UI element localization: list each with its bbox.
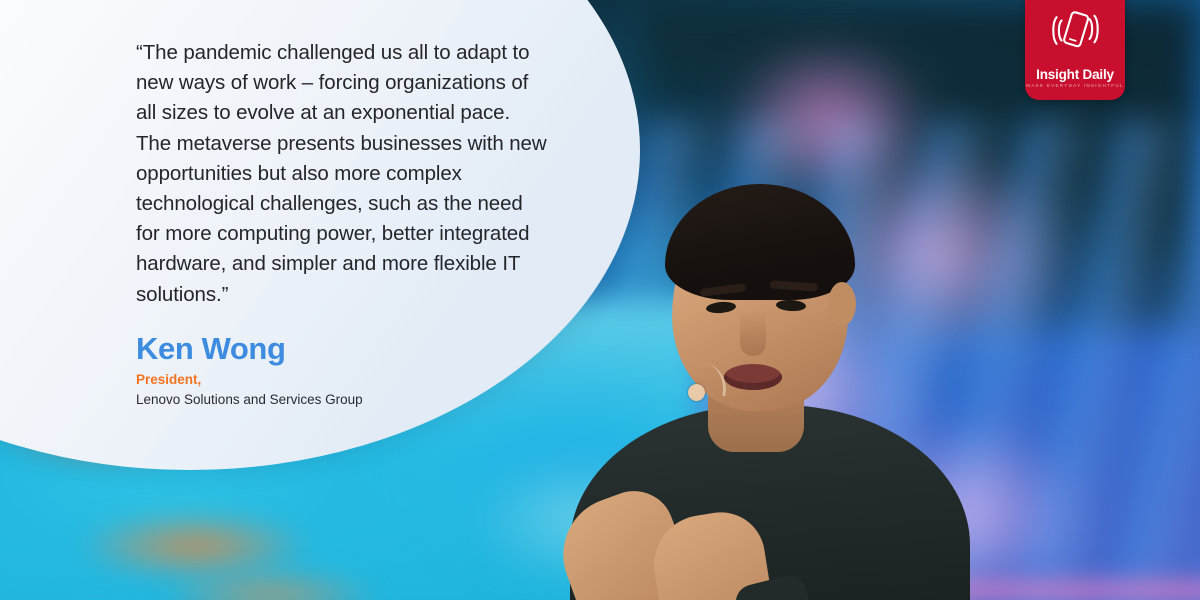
logo-name: Insight Daily bbox=[1036, 68, 1114, 82]
attribution-block: Ken Wong President, Lenovo Solutions and… bbox=[136, 333, 548, 408]
speaker-mouth bbox=[724, 364, 782, 390]
quote-card-panel: “The pandemic challenged us all to adapt… bbox=[0, 0, 640, 470]
speaker-role: President, bbox=[136, 372, 548, 388]
quote-text: “The pandemic challenged us all to adapt… bbox=[136, 38, 548, 310]
vibrating-phone-icon bbox=[1048, 6, 1102, 61]
quote-content: “The pandemic challenged us all to adapt… bbox=[136, 38, 548, 408]
quote-card-graphic: “The pandemic challenged us all to adapt… bbox=[0, 0, 1200, 600]
speaker-hair bbox=[665, 184, 855, 300]
background-orange-blob-lower bbox=[120, 560, 420, 600]
insight-daily-logo-badge[interactable]: Insight Daily Make Everyday Insightful bbox=[1025, 0, 1125, 100]
logo-tagline: Make Everyday Insightful bbox=[1026, 84, 1123, 89]
headset-mic-icon bbox=[688, 384, 705, 401]
speaker-name: Ken Wong bbox=[136, 333, 548, 366]
speaker-ear bbox=[828, 282, 856, 326]
speaker-nose bbox=[740, 310, 766, 356]
speaker-organization: Lenovo Solutions and Services Group bbox=[136, 392, 548, 408]
